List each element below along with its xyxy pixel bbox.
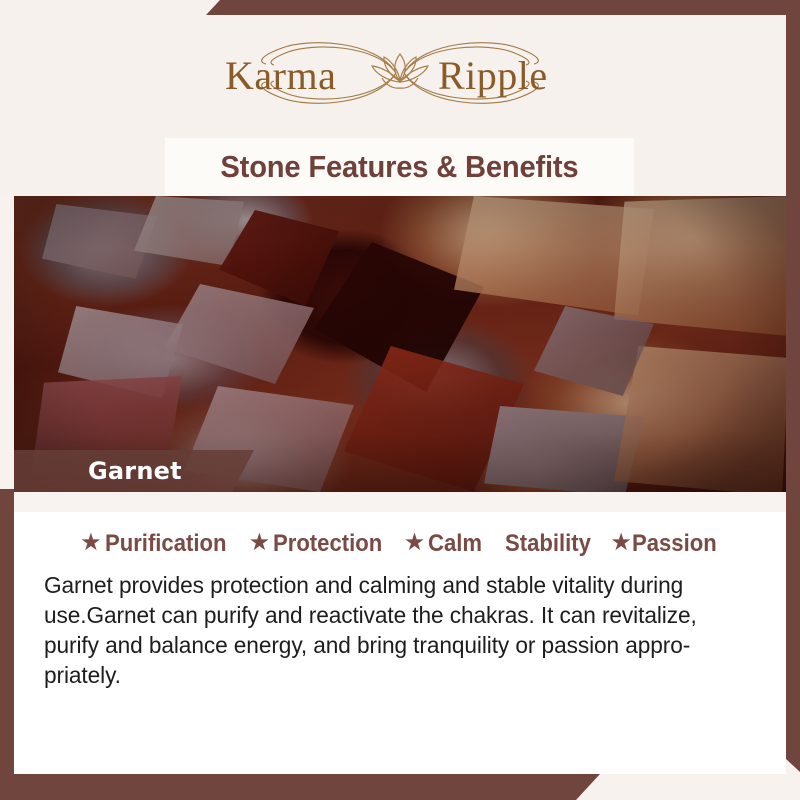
feature-item: ★Protection <box>249 530 392 558</box>
feature-label: Protection <box>273 530 382 558</box>
feature-label: Passion <box>632 530 717 558</box>
logo-word-karma: Karma <box>225 52 336 99</box>
product-infographic-card: Karma Ripple Stone Features & Benefits G… <box>0 0 800 800</box>
title-plaque: Stone Features & Benefits <box>165 138 634 196</box>
feature-item: ★Calm <box>404 530 487 558</box>
brand-logo: Karma Ripple <box>200 32 600 114</box>
stone-description: Garnet provides protection and calming a… <box>44 570 739 690</box>
star-icon: ★ <box>80 531 102 555</box>
content-panel: ★Purification★Protection★CalmStability★P… <box>14 512 786 774</box>
star-icon: ★ <box>610 531 632 555</box>
frame-band-top <box>206 0 800 15</box>
frame-band-bottom <box>0 774 600 800</box>
photo-vignette <box>14 196 786 492</box>
star-icon: ★ <box>249 531 271 555</box>
feature-item: Stability <box>505 530 598 558</box>
feature-label: Purification <box>105 530 226 558</box>
stone-name-label: Garnet <box>88 457 182 485</box>
feature-item: ★Purification <box>80 530 237 558</box>
stone-name-banner: Garnet <box>14 450 254 492</box>
features-row: ★Purification★Protection★CalmStability★P… <box>44 530 760 558</box>
feature-label: Calm <box>428 530 482 558</box>
frame-band-left <box>0 489 14 800</box>
feature-item: ★Passion <box>610 530 724 558</box>
stone-photo: Garnet <box>14 196 786 492</box>
content-divider-strip <box>14 492 786 512</box>
star-icon: ★ <box>404 531 426 555</box>
logo-word-ripple: Ripple <box>438 52 548 99</box>
feature-label: Stability <box>505 530 591 558</box>
page-title: Stone Features & Benefits <box>220 149 578 185</box>
frame-band-right <box>786 0 800 772</box>
